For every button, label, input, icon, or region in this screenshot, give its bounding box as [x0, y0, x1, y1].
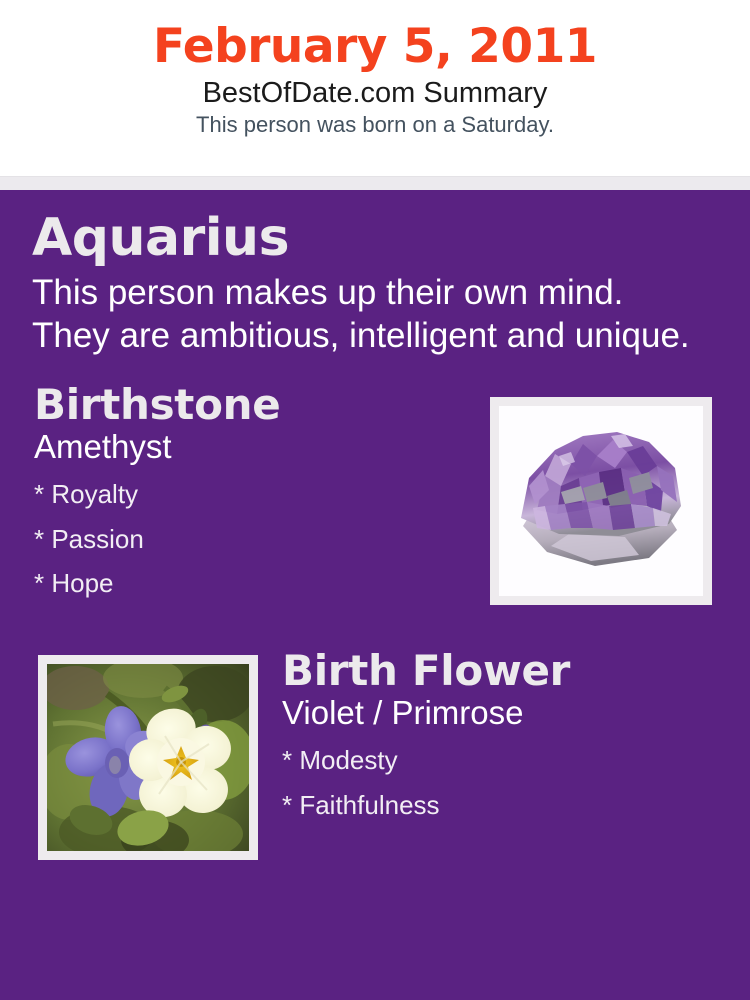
list-item: * Modesty — [282, 738, 750, 783]
birthstone-trait-list: * Royalty * Passion * Hope — [34, 472, 464, 605]
birth-flower-section: Birth Flower Violet / Primrose * Modesty… — [0, 647, 750, 867]
birth-flower-trait-list: * Modesty * Faithfulness — [282, 738, 750, 827]
birthstone-name: Amethyst — [34, 429, 464, 466]
zodiac-section: Aquarius This person makes up their own … — [0, 190, 750, 357]
zodiac-sign-name: Aquarius — [32, 212, 720, 264]
birthstone-section: Birthstone Amethyst * Royalty * Passion … — [0, 383, 750, 605]
birth-flower-name: Violet / Primrose — [282, 695, 750, 732]
birth-flower-image-frame — [38, 655, 258, 860]
page-title: February 5, 2011 — [0, 22, 750, 73]
amethyst-image-frame — [490, 397, 712, 605]
birthstone-text-block: Birthstone Amethyst * Royalty * Passion … — [0, 383, 464, 605]
list-item: * Faithfulness — [282, 783, 750, 828]
site-name: BestOfDate.com Summary — [0, 77, 750, 110]
amethyst-image — [499, 406, 703, 596]
list-item: * Royalty — [34, 472, 464, 516]
birthstone-heading: Birthstone — [34, 383, 464, 427]
birth-flower-image — [47, 664, 249, 851]
amethyst-crystal-icon — [499, 406, 703, 596]
page-header: February 5, 2011 BestOfDate.com Summary … — [0, 0, 750, 176]
summary-content: Aquarius This person makes up their own … — [0, 190, 750, 867]
zodiac-description: This person makes up their own mind. The… — [32, 272, 692, 357]
birth-day-note: This person was born on a Saturday. — [0, 112, 750, 138]
birth-flower-heading: Birth Flower — [282, 649, 750, 693]
header-divider — [0, 176, 750, 190]
birth-flower-text-block: Birth Flower Violet / Primrose * Modesty… — [282, 647, 750, 827]
violet-primrose-flower-icon — [47, 664, 249, 851]
list-item: * Hope — [34, 561, 464, 605]
list-item: * Passion — [34, 517, 464, 561]
